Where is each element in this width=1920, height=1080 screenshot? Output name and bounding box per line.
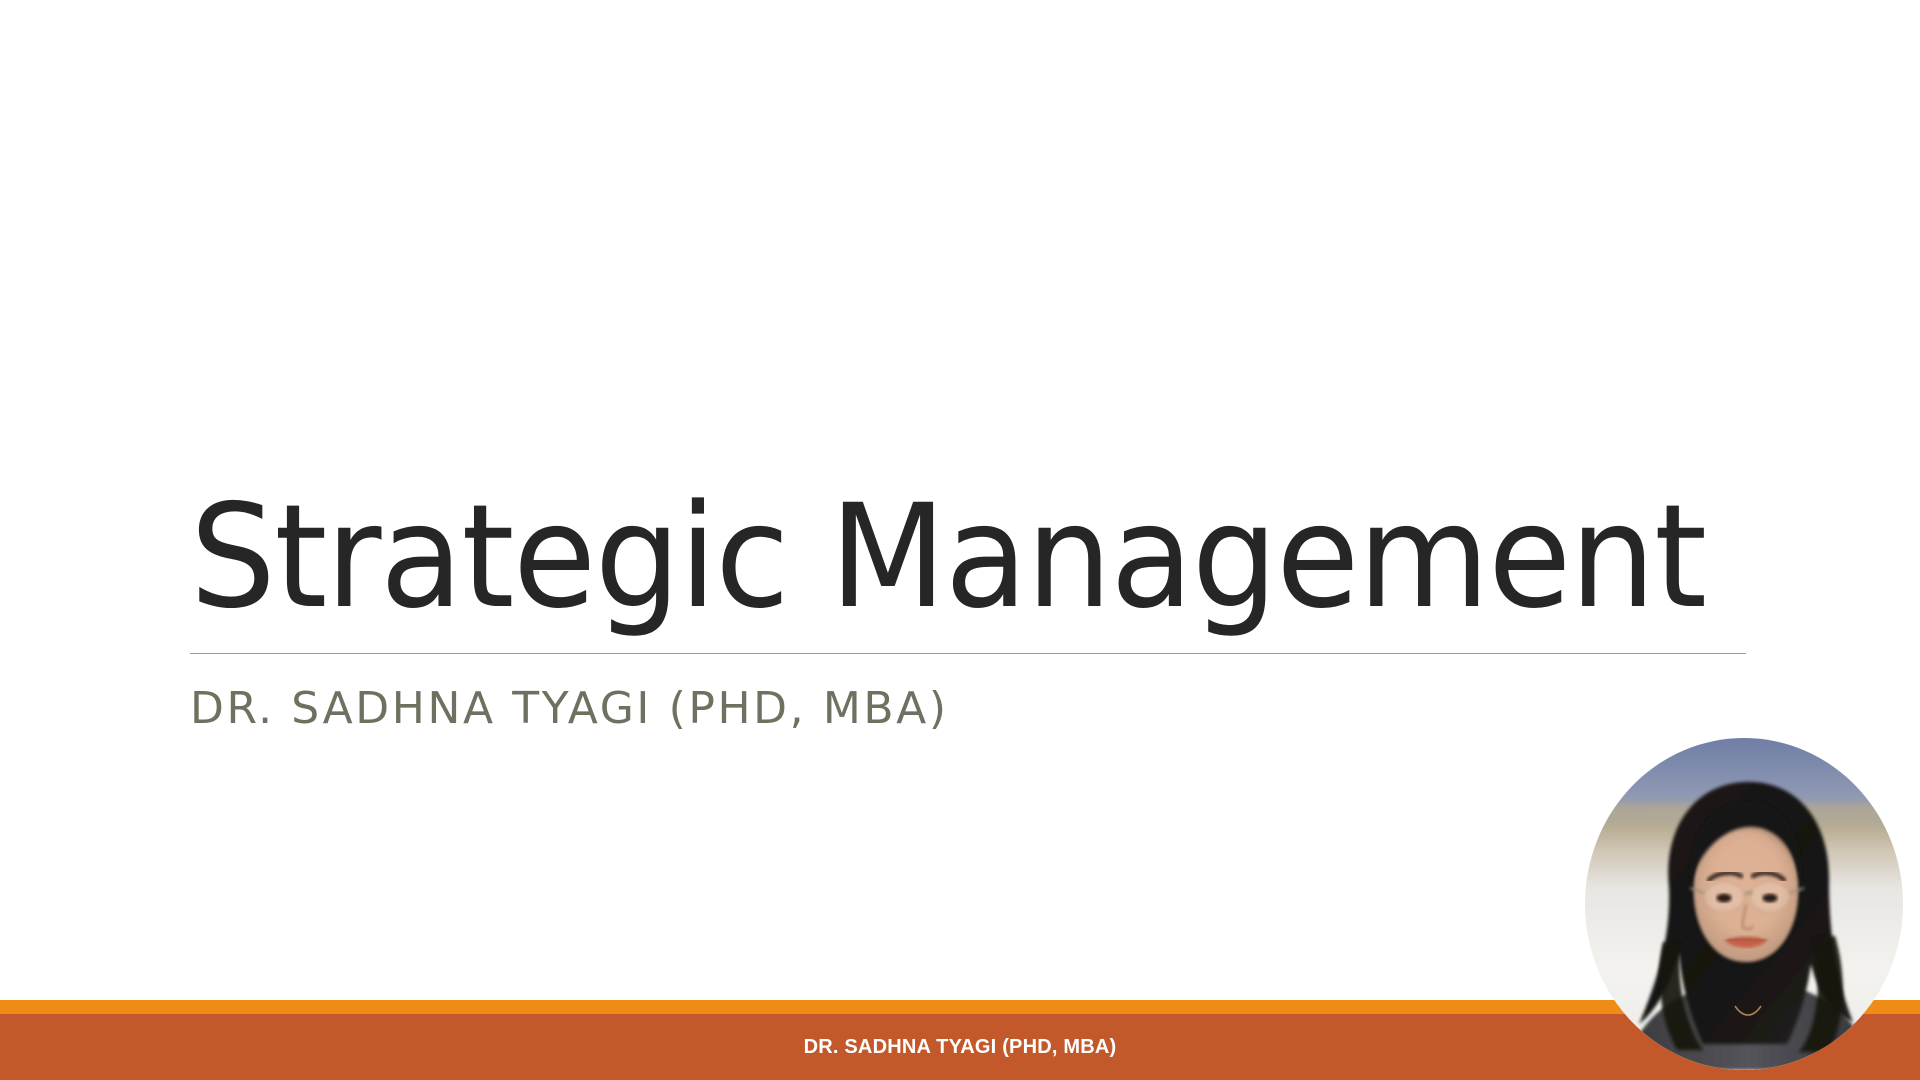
title-divider xyxy=(190,653,1746,654)
portrait-image xyxy=(1585,738,1903,1070)
avatar xyxy=(1585,738,1903,1070)
slide-subtitle: DR. SADHNA TYAGI (PHD, MBA) xyxy=(190,681,1746,736)
title-slide: Strategic Management DR. SADHNA TYAGI (P… xyxy=(0,0,1920,1080)
page-title: Strategic Management xyxy=(190,480,1660,634)
title-block: Strategic Management DR. SADHNA TYAGI (P… xyxy=(190,480,1746,736)
